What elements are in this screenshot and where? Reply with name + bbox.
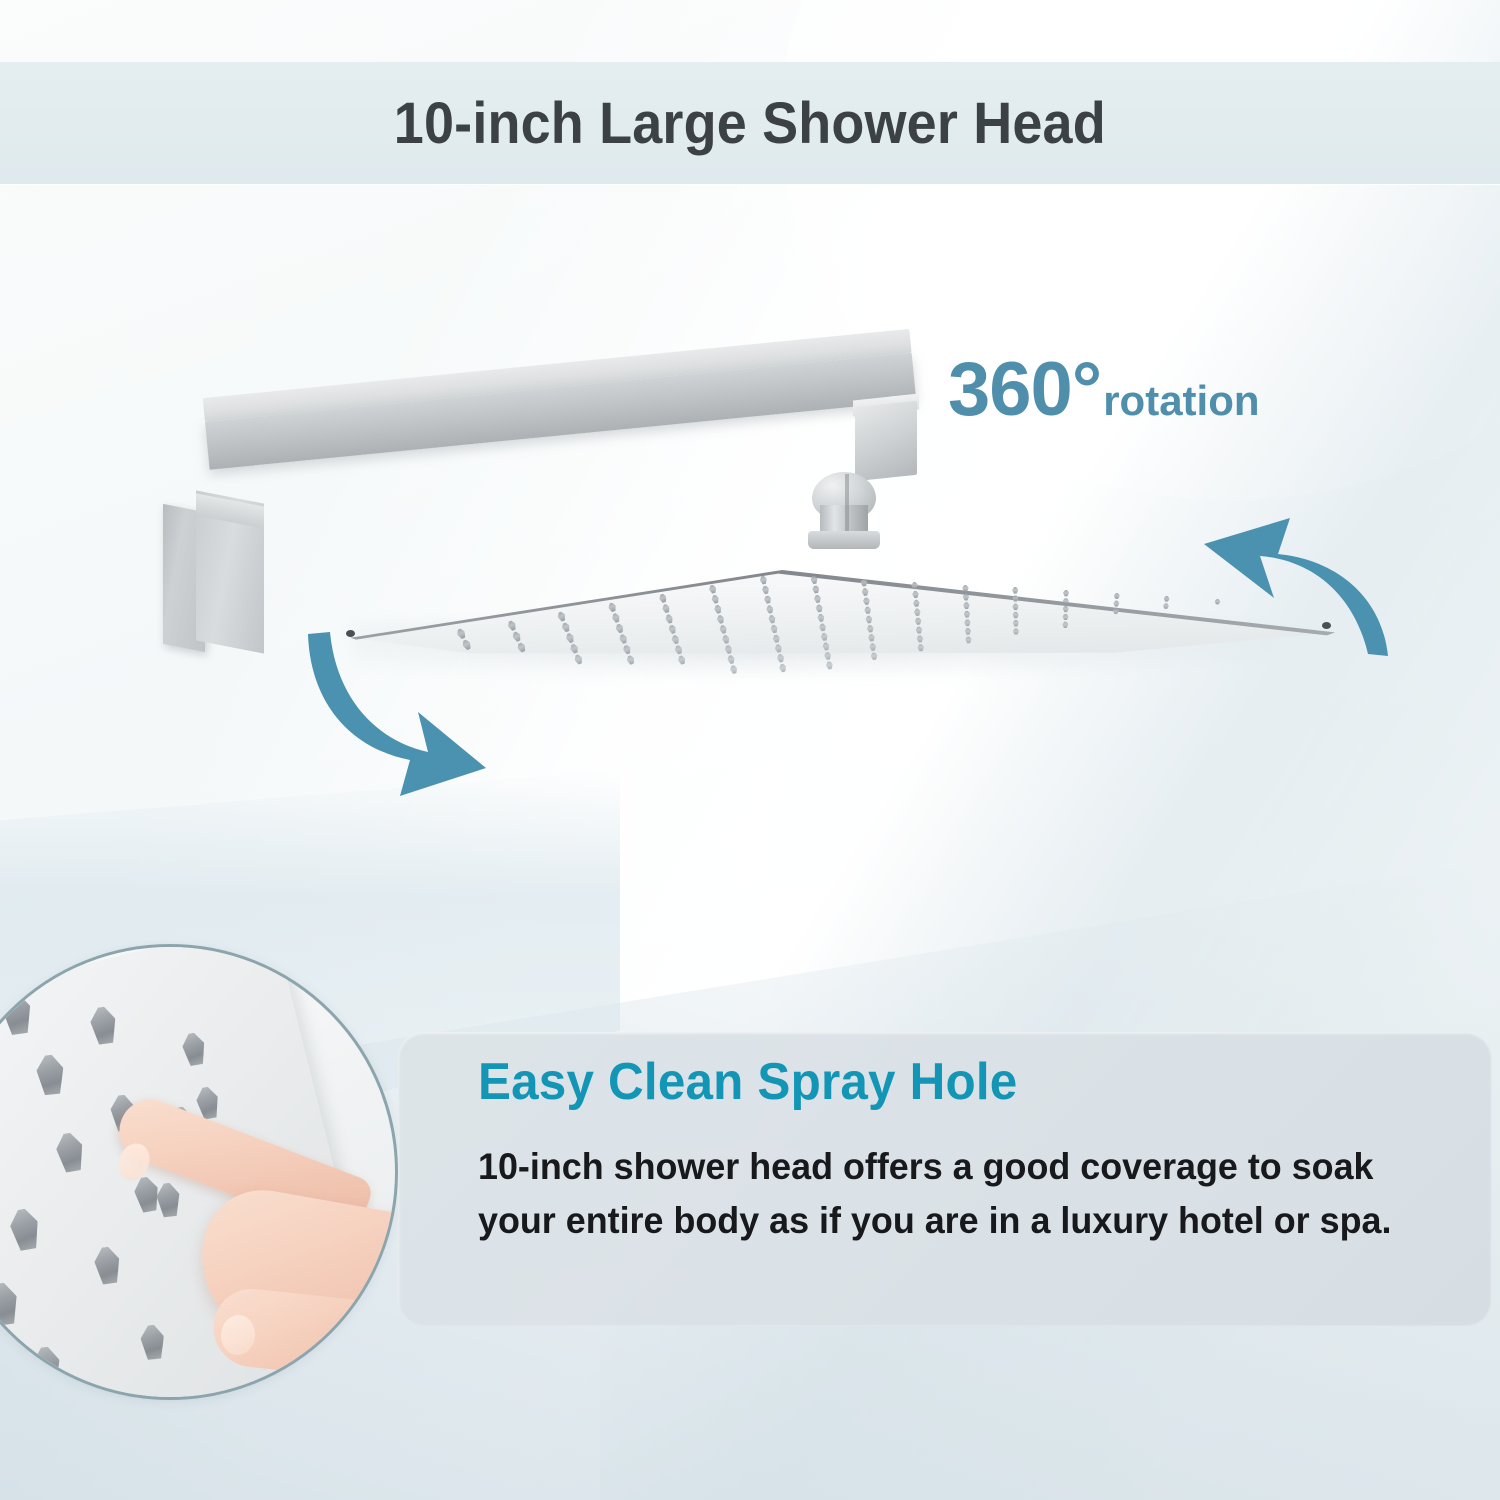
infographic-canvas: 10-inch Large Shower Head xyxy=(0,0,1500,1500)
page-title: 10-inch Large Shower Head xyxy=(394,90,1106,157)
rotation-word: rotation xyxy=(1103,380,1259,422)
rotation-value: 360° xyxy=(948,352,1101,428)
rotation-callout: 360° rotation xyxy=(948,352,1260,428)
feature-heading: Easy Clean Spray Hole xyxy=(478,1052,1017,1112)
curved-arrow-down-right-icon xyxy=(300,600,570,800)
inset-hand xyxy=(113,1129,398,1400)
feature-body-text: 10-inch shower head offers a good covera… xyxy=(478,1140,1409,1247)
header-band: 10-inch Large Shower Head xyxy=(0,62,1500,185)
curved-arrow-up-left-icon xyxy=(1182,498,1392,668)
